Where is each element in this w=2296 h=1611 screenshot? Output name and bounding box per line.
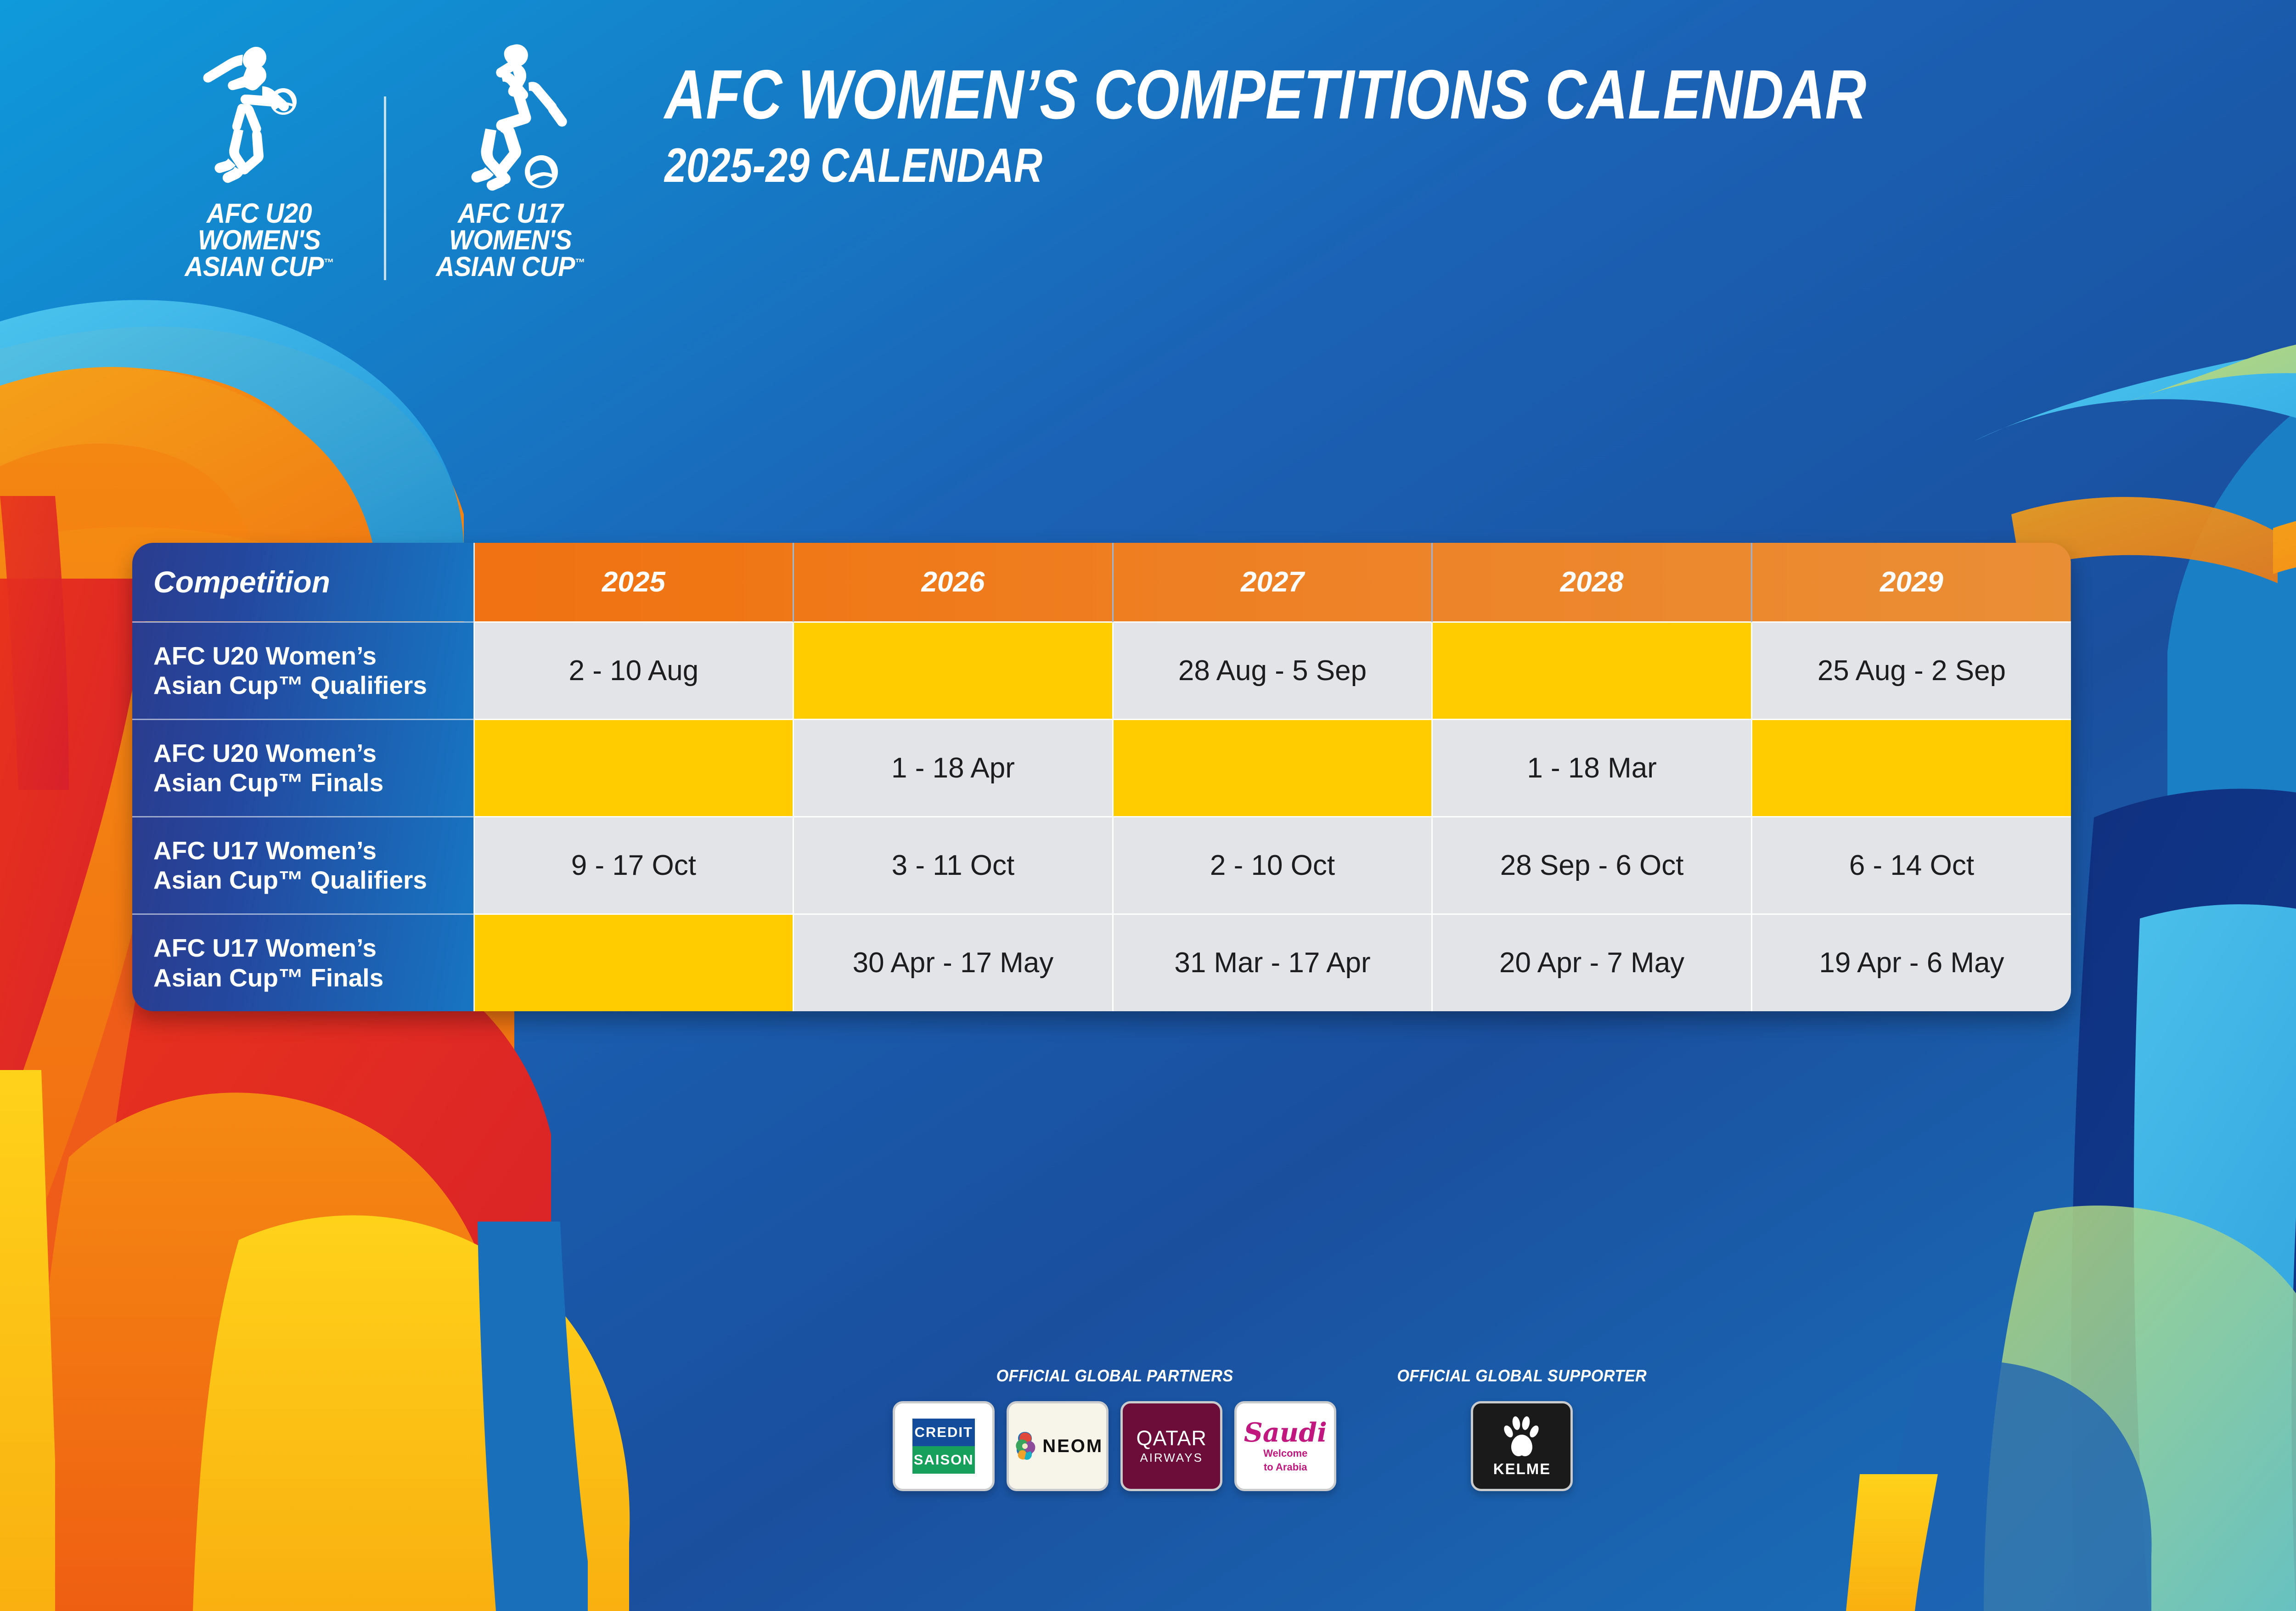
official-global-supporter-group: OFFICIAL GLOBAL SUPPORTER [1390, 1366, 1654, 1491]
row-label-line1: AFC U20 Women’s [153, 642, 377, 670]
logo-afc-u20-womens-asian-cup: AFC U20 WOMEN'S ASIAN CUP™ [152, 32, 367, 281]
supporter-logo-row: KELME [1471, 1401, 1573, 1491]
sponsor-logo-saudi-tourism[interactable]: Saudi Welcome to Arabia [1234, 1401, 1336, 1491]
trademark-symbol: ™ [324, 257, 334, 269]
column-header-2026: 2026 [793, 543, 1113, 622]
saudi-line3: to Arabia [1244, 1461, 1327, 1473]
credit-saison-mark: CREDIT SAISON [912, 1419, 975, 1474]
page-header: AFC U20 WOMEN'S ASIAN CUP™ [0, 0, 2296, 358]
row-label-u17-qualifiers: AFC U17 Women’s Asian Cup™ Qualifiers [132, 817, 474, 914]
female-footballer-dribbling-icon [435, 32, 586, 197]
sponsor-logo-credit-saison[interactable]: CREDIT SAISON [893, 1401, 995, 1491]
calendar-table-container: Competition 2025 2026 2027 2028 2029 AFC… [132, 543, 2071, 1011]
page-subtitle: 2025-29 CALENDAR [664, 141, 1866, 191]
kelme-wordmark: KELME [1493, 1460, 1551, 1478]
row-label-line2: Asian Cup™ Finals [153, 963, 383, 992]
page-title: AFC WOMEN’S COMPETITIONS CALENDAR [664, 60, 1866, 130]
table-body: AFC U20 Women’s Asian Cup™ Qualifiers 2 … [132, 622, 2071, 1011]
row-label-line2: Asian Cup™ Qualifiers [153, 671, 427, 699]
official-global-partners-group: OFFICIAL GLOBAL PARTNERS CREDIT SAISON [893, 1366, 1336, 1491]
cell-u17finals-2025 [474, 914, 793, 1011]
row-label-line2: Asian Cup™ Qualifiers [153, 866, 427, 894]
credit-saison-line2: SAISON [912, 1446, 975, 1474]
logo-afc-u17-womens-asian-cup: AFC U17 WOMEN'S ASIAN CUP™ [403, 32, 619, 281]
cell-u20qual-2026 [793, 622, 1113, 719]
credit-saison-line1: CREDIT [912, 1419, 975, 1446]
cell-u20qual-2028 [1432, 622, 1752, 719]
sponsor-logo-kelme[interactable]: KELME [1471, 1401, 1573, 1491]
cell-u20finals-2025 [474, 719, 793, 817]
title-block: AFC WOMEN’S COMPETITIONS CALENDAR 2025-2… [664, 60, 2130, 191]
cell-u20finals-2028: 1 - 18 Mar [1432, 719, 1752, 817]
competitions-calendar-table: Competition 2025 2026 2027 2028 2029 AFC… [132, 543, 2071, 1011]
kelme-mark: KELME [1493, 1414, 1551, 1478]
sponsor-logo-neom[interactable]: NEOM [1007, 1401, 1109, 1491]
female-footballer-kicking-icon [184, 32, 335, 197]
partner-logo-row: CREDIT SAISON [893, 1401, 1336, 1491]
column-header-2025: 2025 [474, 543, 793, 622]
official-global-partners-caption: OFFICIAL GLOBAL PARTNERS [996, 1366, 1233, 1386]
sponsor-logo-qatar-airways[interactable]: QATAR AIRWAYS [1120, 1401, 1222, 1491]
cell-u20qual-2025: 2 - 10 Aug [474, 622, 793, 719]
table-head: Competition 2025 2026 2027 2028 2029 [132, 543, 2071, 622]
saudi-line2: Welcome [1244, 1448, 1327, 1459]
neom-mark: NEOM [1012, 1431, 1103, 1461]
table-row: AFC U20 Women’s Asian Cup™ Qualifiers 2 … [132, 622, 2071, 719]
table-header-row: Competition 2025 2026 2027 2028 2029 [132, 543, 2071, 622]
cell-u20qual-2029: 25 Aug - 2 Sep [1751, 622, 2071, 719]
cell-u17finals-2027: 31 Mar - 17 Apr [1113, 914, 1432, 1011]
cell-u17qual-2026: 3 - 11 Oct [793, 817, 1113, 914]
trademark-symbol: ™ [575, 257, 585, 269]
cell-u17qual-2025: 9 - 17 Oct [474, 817, 793, 914]
qatar-airways-mark: QATAR AIRWAYS [1137, 1428, 1207, 1465]
logo-group: AFC U20 WOMEN'S ASIAN CUP™ [152, 32, 619, 281]
cell-u17qual-2028: 28 Sep - 6 Oct [1432, 817, 1752, 914]
row-label-u17-finals: AFC U17 Women’s Asian Cup™ Finals [132, 914, 474, 1011]
cell-u20finals-2026: 1 - 18 Apr [793, 719, 1113, 817]
table-row: AFC U17 Women’s Asian Cup™ Qualifiers 9 … [132, 817, 2071, 914]
row-label-line1: AFC U20 Women’s [153, 739, 377, 767]
sponsor-bar: OFFICIAL GLOBAL PARTNERS CREDIT SAISON [0, 1366, 2296, 1491]
table-row: AFC U20 Women’s Asian Cup™ Finals 1 - 18… [132, 719, 2071, 817]
row-label-u20-finals: AFC U20 Women’s Asian Cup™ Finals [132, 719, 474, 817]
neom-wordmark: NEOM [1042, 1436, 1103, 1457]
logo-divider [384, 96, 386, 280]
row-label-line2: Asian Cup™ Finals [153, 768, 383, 797]
neom-flower-icon [1012, 1431, 1038, 1461]
cell-u17qual-2029: 6 - 14 Oct [1751, 817, 2071, 914]
column-header-2027: 2027 [1113, 543, 1432, 622]
official-global-supporter-caption: OFFICIAL GLOBAL SUPPORTER [1397, 1366, 1647, 1386]
cell-u17qual-2027: 2 - 10 Oct [1113, 817, 1432, 914]
logo-u20-wordmark: AFC U20 WOMEN'S ASIAN CUP™ [185, 200, 334, 281]
cell-u20finals-2027 [1113, 719, 1432, 817]
row-label-u20-qualifiers: AFC U20 Women’s Asian Cup™ Qualifiers [132, 622, 474, 719]
paw-print-icon [1503, 1414, 1541, 1459]
cell-u20qual-2027: 28 Aug - 5 Sep [1113, 622, 1432, 719]
logo-u17-wordmark: AFC U17 WOMEN'S ASIAN CUP™ [436, 200, 585, 281]
saudi-mark: Saudi Welcome to Arabia [1244, 1419, 1327, 1473]
column-header-competition: Competition [132, 543, 474, 622]
row-label-line1: AFC U17 Women’s [153, 836, 377, 865]
row-label-line1: AFC U17 Women’s [153, 934, 377, 962]
cell-u17finals-2028: 20 Apr - 7 May [1432, 914, 1752, 1011]
column-header-2029: 2029 [1751, 543, 2071, 622]
column-header-2028: 2028 [1432, 543, 1752, 622]
cell-u20finals-2029 [1751, 719, 2071, 817]
cell-u17finals-2029: 19 Apr - 6 May [1751, 914, 2071, 1011]
qatar-airways-line2: AIRWAYS [1137, 1451, 1207, 1465]
saudi-line1: Saudi [1244, 1419, 1327, 1446]
qatar-airways-line1: QATAR [1137, 1428, 1207, 1448]
cell-u17finals-2026: 30 Apr - 17 May [793, 914, 1113, 1011]
table-row: AFC U17 Women’s Asian Cup™ Finals 30 Apr… [132, 914, 2071, 1011]
